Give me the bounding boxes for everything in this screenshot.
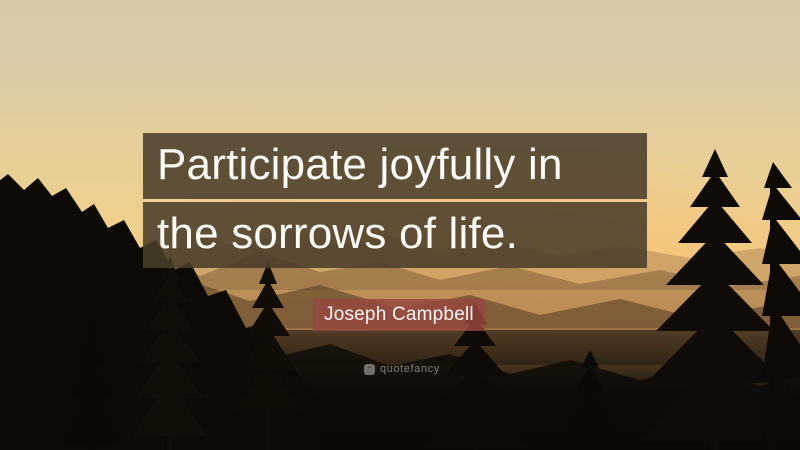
author-attribution: Joseph Campbell — [313, 299, 485, 331]
watermark: “ quotefancy — [364, 363, 440, 375]
watermark-label: quotefancy — [380, 363, 440, 375]
quote-badge-icon: “ — [364, 364, 375, 375]
conifer-tree-right-low — [556, 350, 626, 450]
quote-poster: Participate joyfully in the sorrows of l… — [0, 0, 800, 450]
conifer-tree-center-left — [232, 258, 304, 450]
quote-line-1: Participate joyfully in — [143, 133, 647, 199]
conifer-tree-left-low — [60, 318, 122, 450]
conifer-tree-right-edge — [762, 160, 800, 450]
quote-banner: Participate joyfully in the sorrows of l… — [143, 133, 647, 268]
quote-line-2: the sorrows of life. — [143, 202, 647, 268]
conifer-tree-left-mid — [130, 250, 210, 450]
